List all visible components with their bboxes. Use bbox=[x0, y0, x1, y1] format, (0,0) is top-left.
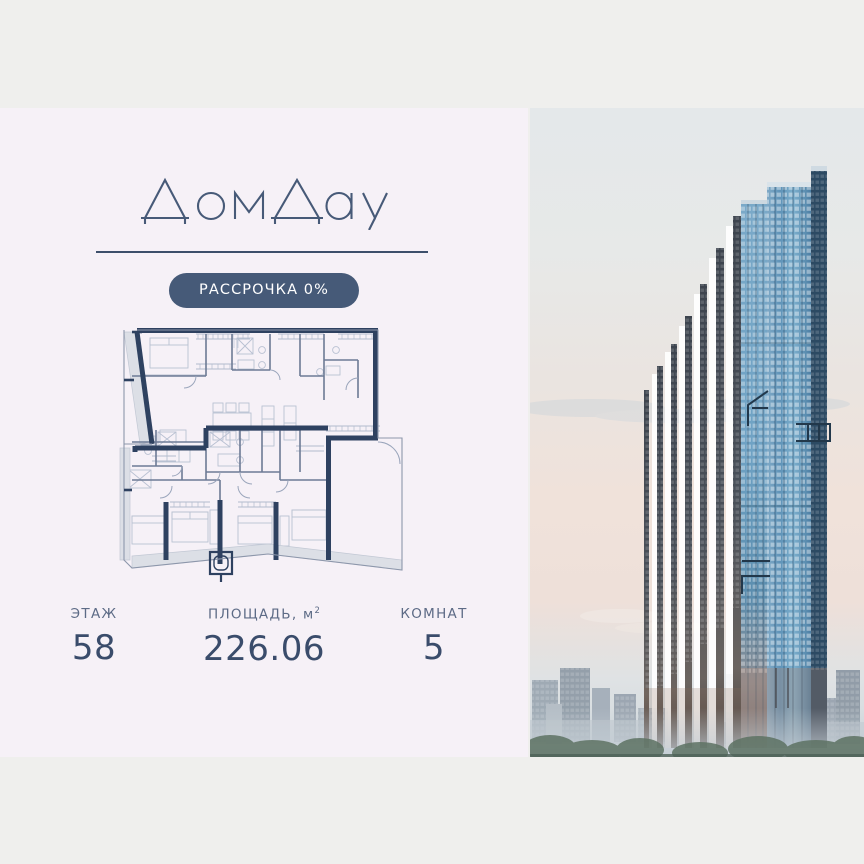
logo-divider bbox=[96, 251, 428, 253]
brand-logo bbox=[0, 174, 528, 230]
tower-photo[interactable] bbox=[530, 108, 864, 757]
stat-area-value: 226.06 bbox=[169, 632, 359, 666]
floor-plan[interactable] bbox=[110, 320, 430, 590]
stat-rooms: КОМНАТ 5 bbox=[359, 606, 509, 665]
stat-rooms-label: КОМНАТ bbox=[359, 606, 509, 622]
stat-floor: ЭТАЖ 58 bbox=[19, 606, 169, 665]
stat-area-label-sup: 2 bbox=[315, 606, 320, 616]
info-card: РАССРОЧКА 0% bbox=[0, 108, 528, 757]
stat-area-label: ПЛОЩАДЬ, м2 bbox=[169, 606, 359, 623]
stat-floor-label: ЭТАЖ bbox=[19, 606, 169, 622]
stat-floor-value: 58 bbox=[19, 631, 169, 665]
stat-rooms-value: 5 bbox=[359, 631, 509, 665]
stat-area-label-text: ПЛОЩАДЬ, м bbox=[208, 607, 315, 623]
stats-row: ЭТАЖ 58 ПЛОЩАДЬ, м2 226.06 КОМНАТ 5 bbox=[0, 606, 528, 666]
listing-card-stage: РАССРОЧКА 0% bbox=[0, 0, 864, 864]
installment-badge[interactable]: РАССРОЧКА 0% bbox=[169, 273, 359, 308]
stat-area: ПЛОЩАДЬ, м2 226.06 bbox=[169, 606, 359, 666]
